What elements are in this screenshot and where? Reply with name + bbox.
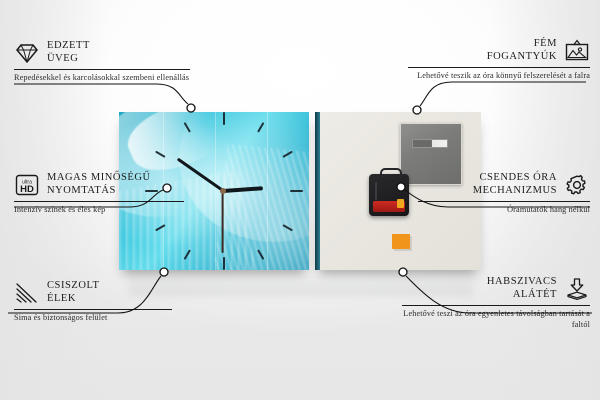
clock-tick [223,112,225,125]
callout-divider [14,309,172,310]
clock-mechanism-part [369,174,409,216]
callout-title: MAGAS MINŐSÉGŰ NYOMTATÁS [47,172,151,197]
callout-title: CSENDES ÓRA MECHANIZMUS [473,172,557,197]
polished-edge-icon [14,281,40,305]
battery [373,201,405,212]
foam-spacer-pad [392,234,410,249]
clock-tick [282,151,293,158]
clock-tick [155,224,166,231]
infographic-canvas: EDZETT ÜVEG Repedésekkel és karcolásokka… [0,0,600,400]
callout-divider [14,69,190,70]
callout-divider [418,201,590,202]
clock-tick [257,249,264,260]
wire-endpoint-glass [187,104,195,112]
callout-description: Óramutatók hang nélkül [418,205,590,216]
svg-text:HD: HD [20,184,34,195]
clock-tick [257,122,264,133]
ultra-hd-icon: ultra HD [14,173,40,197]
mechanism-seam [375,182,377,200]
clock-tick [223,257,225,270]
callout-header: ultra HD MAGAS MINŐSÉGŰ NYOMTATÁS [14,172,184,197]
picture-hanger-icon [564,39,590,63]
callout-header: CSISZOLT ÉLEK [14,280,172,305]
clock-second-hand [222,191,224,253]
clock-tick [282,224,293,231]
callout-polished-edges[interactable]: CSISZOLT ÉLEK Sima és biztonságos felüle… [14,280,172,324]
callout-header: EDZETT ÜVEG [14,40,190,65]
clock-center-cap [220,188,226,194]
callout-title: CSISZOLT ÉLEK [47,280,99,305]
foam-spacer-icon [564,277,590,301]
callout-high-quality-print[interactable]: ultra HD MAGAS MINŐSÉGŰ NYOMTATÁS Intenz… [14,172,184,216]
wire-handle [420,82,586,106]
callout-description: Lehetővé teszi az óra egyenletes távolsá… [402,309,590,330]
callout-description: Repedésekkel és karcolásokkal szembeni e… [14,73,190,84]
hanger-slot [412,139,448,148]
callout-description: Lehetővé teszik az óra könnyű felszerelé… [408,71,590,82]
callout-divider [14,201,184,202]
callout-description: Intenzív színek és éles kép [14,205,184,216]
diamond-icon [14,41,40,65]
callout-title: FÉM FOGANTYÚK [487,38,557,63]
callout-divider [402,305,590,306]
callout-title: EDZETT ÜVEG [47,40,90,65]
callout-tempered-glass[interactable]: EDZETT ÜVEG Repedésekkel és karcolásokka… [14,40,190,84]
callout-title: HABSZIVACS ALÁTÉT [487,276,557,301]
clock-tick [184,249,191,260]
callout-description: Sima és biztonságos felület [14,313,172,324]
gear-icon [564,173,590,197]
callout-foam-spacer[interactable]: HABSZIVACS ALÁTÉT Lehetővé teszi az óra … [402,276,590,330]
callout-header: CSENDES ÓRA MECHANIZMUS [418,172,590,197]
clock-tick [290,190,303,192]
callout-divider [408,67,590,68]
mechanism-handle [380,168,402,179]
callout-header: HABSZIVACS ALÁTÉT [402,276,590,301]
callout-header: FÉM FOGANTYÚK [408,38,590,63]
callout-metal-handles[interactable]: FÉM FOGANTYÚK Lehetővé teszik az óra kön… [408,38,590,82]
clock-tick [184,122,191,133]
clock-tick [155,151,166,158]
wire-glass [14,84,188,104]
callout-silent-mechanism[interactable]: CSENDES ÓRA MECHANIZMUS Óramutatók hang … [418,172,590,216]
clock-hour-hand [223,186,263,193]
